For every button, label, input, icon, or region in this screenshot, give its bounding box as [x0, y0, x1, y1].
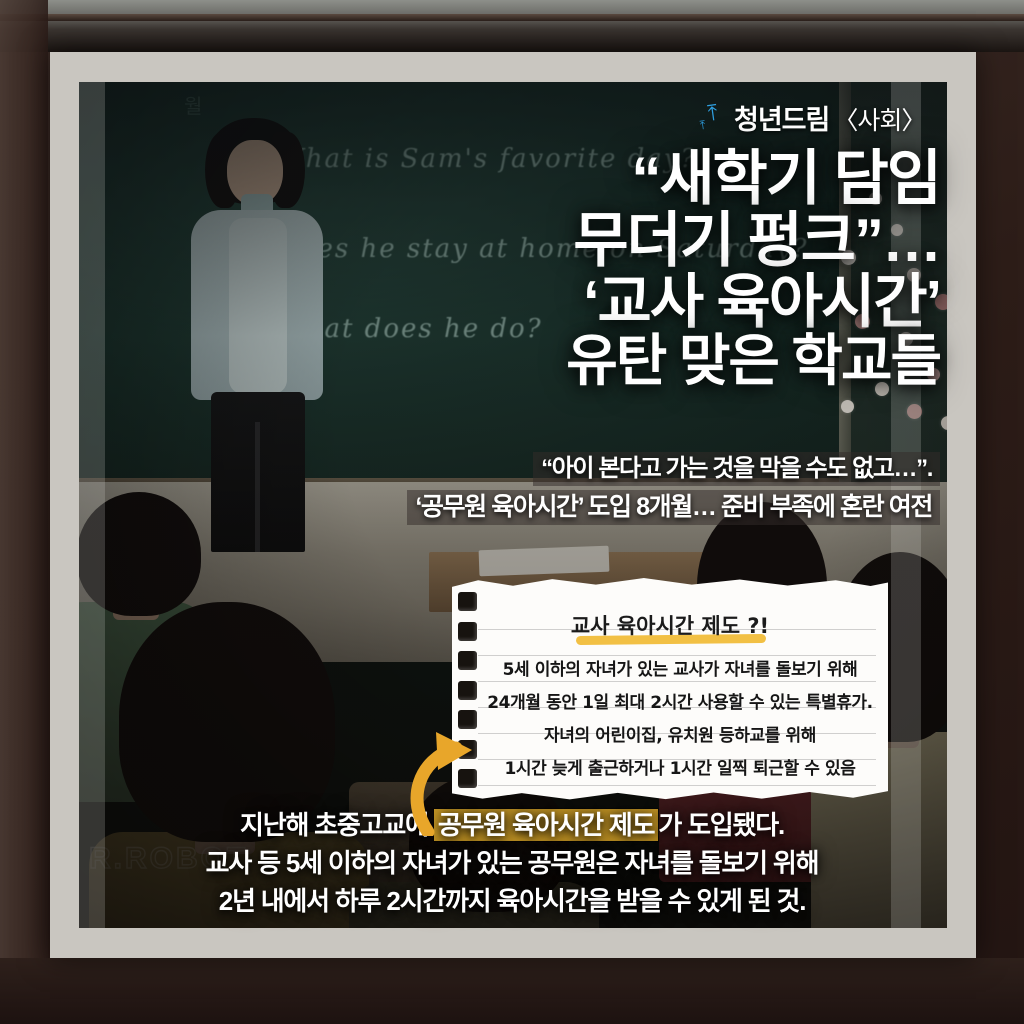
brand-name: 청년드림: [734, 98, 829, 137]
note-body-line-3: 자녀의 어린이집, 유치원 등하교를 위해: [486, 720, 874, 753]
headline: “새학기 담임 무더기 펑크”… ‘교사 육아시간’ 유탄 맞은 학교들: [566, 148, 940, 390]
bird-icon: ⤒ ⤒: [700, 103, 730, 137]
headline-line-2: 무더기 펑크”…: [566, 210, 940, 272]
desk-paper: [479, 546, 610, 577]
subheadline-1: “아이 본다고 가는 것을 막을 수도 없고…”.: [533, 452, 940, 486]
flower-decoration: [841, 400, 854, 413]
bottom-edge-strip: [0, 958, 1024, 1024]
caption-line-2: 교사 등 5세 이하의 자녀가 있는 공무원은 자녀를 돌보기 위해: [0, 844, 1024, 882]
punch-hole: [458, 592, 477, 611]
news-card: 월 What is Sam's favorite day? Does he st…: [0, 0, 1024, 1024]
note-body: 5세 이하의 자녀가 있는 교사가 자녀를 돌보기 위해 24개월 동안 1일 …: [486, 654, 874, 786]
caption-line-3: 2년 내에서 하루 2시간까지 육아시간을 받을 수 있게 된 것.: [0, 882, 1024, 920]
curved-arrow-icon: [398, 726, 518, 836]
note-body-line-4: 1시간 늦게 출근하거나 1시간 일찍 퇴근할 수 있음: [486, 753, 874, 786]
bird-icon-small: ⤒: [699, 119, 706, 132]
subheadline-group: “아이 본다고 가는 것을 막을 수도 없고…”. ‘공무원 육아시간’ 도입 …: [407, 452, 940, 525]
punch-hole: [458, 681, 477, 700]
headline-line-1: “새학기 담임: [566, 148, 940, 210]
brand-logo[interactable]: ⤒ ⤒ 청년드림 〈사회〉: [700, 98, 925, 137]
brand-category: 〈사회〉: [833, 101, 925, 137]
top-edge-strip: [0, 0, 1024, 52]
note-title: 교사 육아시간 제도 ?!: [452, 610, 888, 640]
note-body-line-1: 5세 이하의 자녀가 있는 교사가 자녀를 돌보기 위해: [486, 654, 874, 687]
flower-decoration: [907, 404, 922, 419]
caption-line-1-after: 가 도입됐다.: [658, 810, 784, 840]
bird-icon-large: ⤒: [707, 102, 720, 125]
note-body-line-2: 24개월 동안 1일 최대 2시간 사용할 수 있는 특별휴가.: [486, 687, 874, 720]
headline-line-4: 유탄 맞은 학교들: [566, 332, 940, 390]
subheadline-2: ‘공무원 육아시간’ 도입 8개월… 준비 부족에 혼란 여전: [407, 490, 940, 525]
board-corner-note: 월: [184, 90, 205, 119]
headline-line-3: ‘교사 육아시간’: [566, 272, 940, 333]
punch-hole: [458, 651, 477, 670]
